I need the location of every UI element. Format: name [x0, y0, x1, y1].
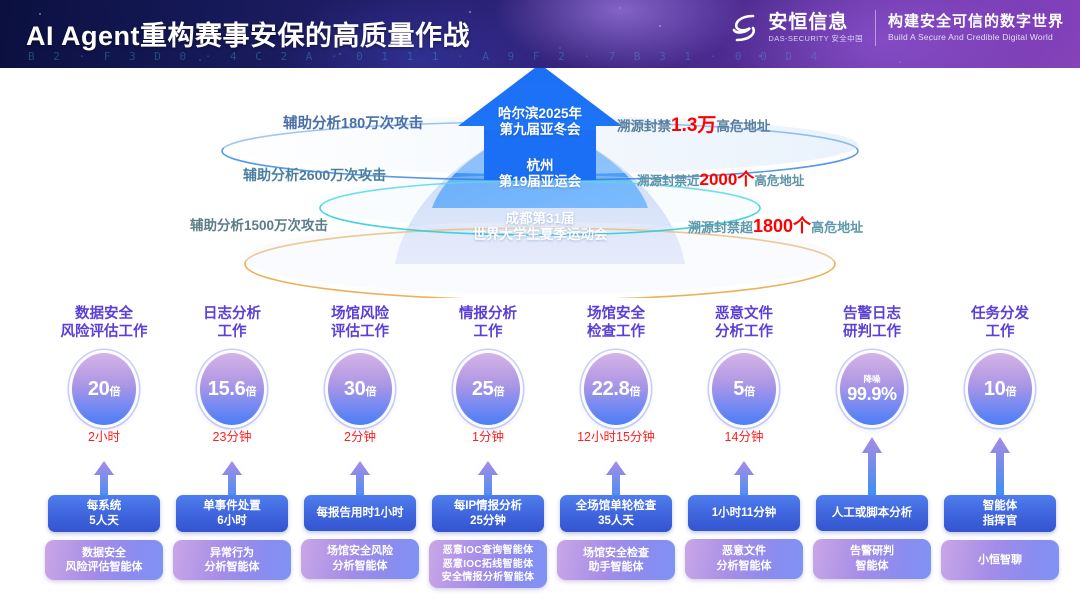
pyramid-tier-2-name: 杭州 第19届亚运会	[462, 158, 618, 191]
column-6-time-label: 14分钟	[682, 427, 806, 447]
column-1: 数据安全风险评估工作 20倍 2小时 每系统5人天 数据安全风险评估智能体	[42, 305, 166, 580]
column-2: 日志分析工作 15.6倍 23分钟 单事件处置6小时 异常行为分析智能体	[170, 305, 294, 580]
slogan-en: Build A Secure And Credible Digital Worl…	[888, 33, 1064, 43]
column-8-metric-circle: 10倍	[968, 353, 1032, 425]
column-1-arrow	[42, 447, 166, 495]
column-7-agent-box: 告警研判智能体	[813, 539, 931, 579]
column-4: 情报分析工作 25倍 1分钟 每IP情报分析25分钟 恶意IOC查询智能体恶意I…	[426, 305, 550, 588]
column-6-title: 恶意文件分析工作	[682, 305, 806, 345]
pyramid-tier-3-name: 成都第31届 世界大学生夏季运动会	[432, 211, 648, 244]
company-logo: 安恒信息 DAS-SECURITY 安全中国	[728, 11, 863, 45]
column-4-metric-circle: 25倍	[456, 353, 520, 425]
pyramid-tier-1-name: 哈尔滨2025年 第九届亚冬会	[462, 106, 618, 139]
column-5-arrow	[554, 447, 678, 495]
column-7: 告警日志研判工作 降噪 99.9% 人工或脚本分析 告警研判智能体	[810, 305, 934, 579]
column-6-blue-box: 1小时11分钟	[688, 495, 800, 531]
pyramid-diagram: 哈尔滨2025年 第九届亚冬会 杭州 第19届亚运会 成都第31届 世界大学生夏…	[0, 68, 1080, 298]
page-title: AI Agent重构赛事安保的高质量作战	[26, 14, 470, 53]
column-1-agent-box: 数据安全风险评估智能体	[45, 540, 163, 580]
brand-name-en: DAS-SECURITY 安全中国	[768, 35, 863, 43]
pyramid-tier-3-left-label: 辅助分析1500万次攻击	[190, 214, 328, 234]
column-8-arrow	[938, 447, 1062, 495]
column-4-blue-box: 每IP情报分析25分钟	[432, 495, 544, 532]
column-4-agent-box: 恶意IOC查询智能体恶意IOC拓线智能体安全情报分析智能体	[429, 540, 547, 588]
pyramid-tier-1-left-label: 辅助分析180万次攻击	[283, 112, 423, 133]
column-6-arrow	[682, 447, 806, 495]
header-brand-area: 安恒信息 DAS-SECURITY 安全中国 构建安全可信的数字世界 Build…	[728, 10, 1064, 46]
column-8-blue-box: 智能体指挥官	[944, 495, 1056, 532]
column-3-time-label: 2分钟	[298, 427, 422, 447]
das-swoosh-logo-icon	[728, 11, 762, 45]
column-5-blue-box: 全场馆单轮检查35人天	[560, 495, 672, 532]
column-5-agent-box: 场馆安全检查助手智能体	[557, 540, 675, 580]
column-5-time-label: 12小时15分钟	[554, 427, 678, 447]
column-7-title: 告警日志研判工作	[810, 305, 934, 345]
column-2-blue-box: 单事件处置6小时	[176, 495, 288, 532]
column-6-metric-circle: 5倍	[712, 353, 776, 425]
column-2-metric-circle: 15.6倍	[200, 353, 264, 425]
column-8-title: 任务分发工作	[938, 305, 1062, 345]
column-4-time-label: 1分钟	[426, 427, 550, 447]
column-3-metric-circle: 30倍	[328, 353, 392, 425]
column-2-title: 日志分析工作	[170, 305, 294, 345]
capability-columns: 数据安全风险评估工作 20倍 2小时 每系统5人天 数据安全风险评估智能体 日志…	[0, 305, 1080, 610]
header-divider	[875, 10, 876, 46]
pyramid-tier-1-right-label: 溯源封禁1.3万高危地址	[617, 110, 770, 137]
column-1-blue-box: 每系统5人天	[48, 495, 160, 532]
column-6-agent-box: 恶意文件分析智能体	[685, 539, 803, 579]
column-8-agent-box: 小恒智聊	[941, 540, 1059, 580]
column-2-arrow	[170, 447, 294, 495]
pyramid-tier-2-left-label: 辅助分析2600万次攻击	[243, 165, 386, 185]
column-1-title: 数据安全风险评估工作	[42, 305, 166, 345]
column-3: 场馆风险评估工作 30倍 2分钟 每报告用时1小时 场馆安全风险分析智能体	[298, 305, 422, 579]
column-7-arrow	[810, 447, 934, 495]
pyramid-tier-2-right-label: 溯源封禁近2000个高危地址	[637, 165, 804, 190]
brand-slogan: 构建安全可信的数字世界 Build A Secure And Credible …	[888, 13, 1064, 43]
column-3-blue-box: 每报告用时1小时	[304, 495, 416, 531]
column-3-agent-box: 场馆安全风险分析智能体	[301, 539, 419, 579]
column-2-agent-box: 异常行为分析智能体	[173, 540, 291, 580]
column-2-time-label: 23分钟	[170, 427, 294, 447]
column-5-title: 场馆安全检查工作	[554, 305, 678, 345]
slogan-cn: 构建安全可信的数字世界	[888, 13, 1064, 30]
slide-root: B 2 · F 3 D 0 · 4 C 2 A · 0 1 1 1 · A 9 …	[0, 0, 1080, 610]
column-3-title: 场馆风险评估工作	[298, 305, 422, 345]
column-1-time-label: 2小时	[42, 427, 166, 447]
brand-name-cn: 安恒信息	[768, 13, 863, 32]
column-5-metric-circle: 22.8倍	[584, 353, 648, 425]
column-8: 任务分发工作 10倍 智能体指挥官 小恒智聊	[938, 305, 1062, 580]
column-3-arrow	[298, 447, 422, 495]
column-7-blue-box: 人工或脚本分析	[816, 495, 928, 531]
column-5: 场馆安全检查工作 22.8倍 12小时15分钟 全场馆单轮检查35人天 场馆安全…	[554, 305, 678, 580]
column-6: 恶意文件分析工作 5倍 14分钟 1小时11分钟 恶意文件分析智能体	[682, 305, 806, 579]
column-4-arrow	[426, 447, 550, 495]
column-7-metric-circle: 降噪 99.9%	[840, 353, 904, 425]
column-4-title: 情报分析工作	[426, 305, 550, 345]
pyramid-tier-3-right-label: 溯源封禁超1800个高危地址	[688, 212, 863, 238]
column-1-metric-circle: 20倍	[72, 353, 136, 425]
slide-header: B 2 · F 3 D 0 · 4 C 2 A · 0 1 1 1 · A 9 …	[0, 0, 1080, 68]
